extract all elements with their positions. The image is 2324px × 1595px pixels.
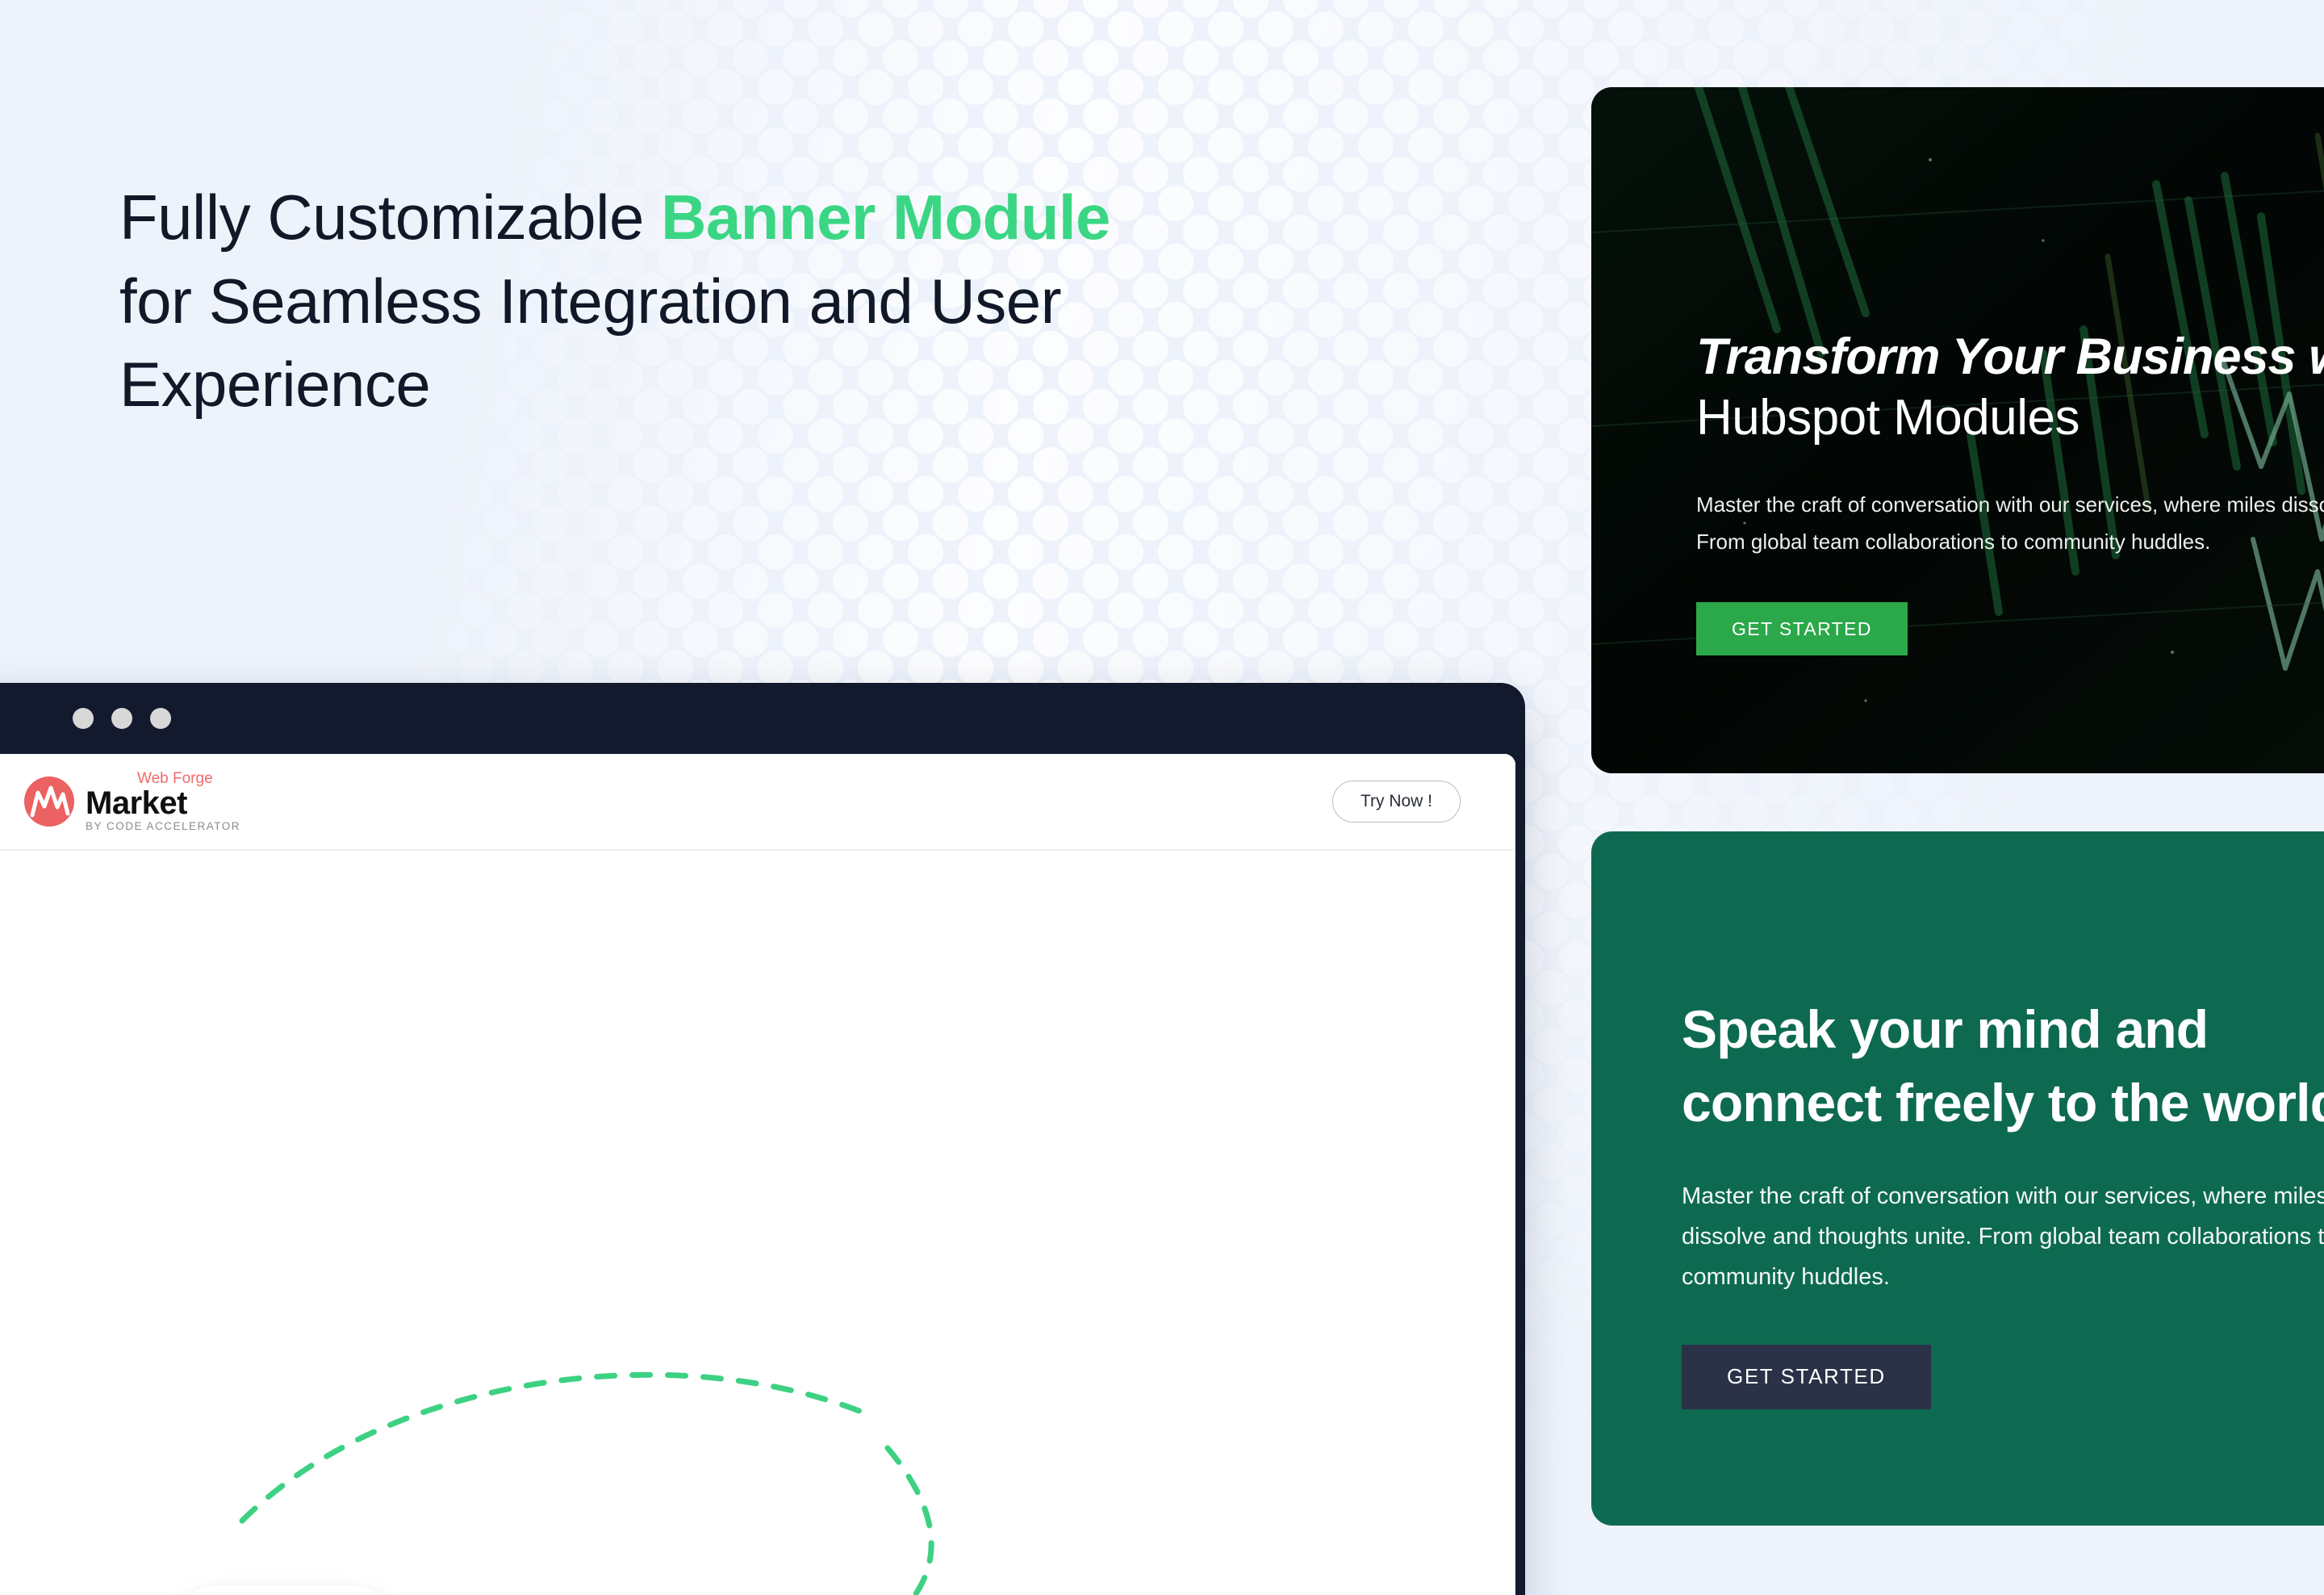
banner-card-dark-paragraph-line1: Master the craft of conversation with ou… [1696, 486, 2324, 523]
banner-card-dark-paragraph-line2: From global team collaborations to commu… [1696, 523, 2324, 560]
banner-card-green-paragraph-line1: Master the craft of conversation with ou… [1682, 1177, 2324, 1217]
banner-card-green-heading: Speak your mind and connect freely to th… [1682, 993, 2324, 1140]
banner-card-dark-content: Transform Your Business with Hubspot Mod… [1696, 329, 2324, 655]
page-title: Fully Customizable Banner Module for Sea… [119, 176, 1540, 427]
banner-card-green-get-started-button[interactable]: GET STARTED [1682, 1345, 1931, 1409]
logo-mark-icon [24, 777, 74, 827]
site-navbar: Web Forge Market BY CODE ACCELERATOR Try… [0, 754, 1515, 851]
banner-card-green: Speak your mind and connect freely to th… [1591, 831, 2324, 1526]
banner-card-dark-paragraph: Master the craft of conversation with ou… [1696, 486, 2324, 561]
page-title-line3: Experience [119, 349, 430, 420]
page-title-line1-accent: Banner Module [661, 182, 1110, 253]
banner-card-green-paragraph: Master the craft of conversation with ou… [1682, 1177, 2324, 1298]
connection-curves [0, 851, 1515, 1595]
chat-bubble-1[interactable] [173, 1585, 395, 1595]
logo-top-text: Web Forge [137, 771, 240, 786]
logo-wordmark: Web Forge Market BY CODE ACCELERATOR [86, 771, 240, 832]
banner-card-green-heading-line1: Speak your mind and [1682, 993, 2324, 1066]
window-dot-minimize-icon[interactable] [111, 708, 132, 729]
banner-card-green-paragraph-line2: dissolve and thoughts unite. From global… [1682, 1217, 2324, 1258]
site-logo[interactable]: Web Forge Market BY CODE ACCELERATOR [24, 771, 240, 832]
banner-card-dark-heading-regular: Hubspot Modules [1696, 387, 2324, 449]
banner-card-green-paragraph-line3: community huddles. [1682, 1258, 2324, 1298]
window-dot-close-icon[interactable] [73, 708, 94, 729]
browser-window-mockup: Web Forge Market BY CODE ACCELERATOR Try… [0, 683, 1525, 1595]
browser-titlebar [0, 683, 1525, 754]
banner-card-green-heading-line2: connect freely to the world. [1682, 1066, 2324, 1140]
window-dot-maximize-icon[interactable] [150, 708, 171, 729]
page-title-line1-plain: Fully Customizable [119, 182, 661, 253]
try-now-button[interactable]: Try Now ! [1332, 781, 1461, 823]
banner-card-green-content: Speak your mind and connect freely to th… [1682, 993, 2324, 1409]
browser-viewport: Web Forge Market BY CODE ACCELERATOR Try… [0, 754, 1515, 1595]
banner-card-dark: Transform Your Business with Hubspot Mod… [1591, 87, 2324, 773]
banner-card-dark-get-started-button[interactable]: GET STARTED [1696, 602, 1908, 655]
banner-card-dark-heading-italic: Transform Your Business with [1696, 329, 2324, 384]
page-title-line2: for Seamless Integration and User [119, 266, 1061, 337]
logo-main-text: Market [86, 787, 240, 819]
logo-sub-text: BY CODE ACCELERATOR [86, 821, 240, 832]
